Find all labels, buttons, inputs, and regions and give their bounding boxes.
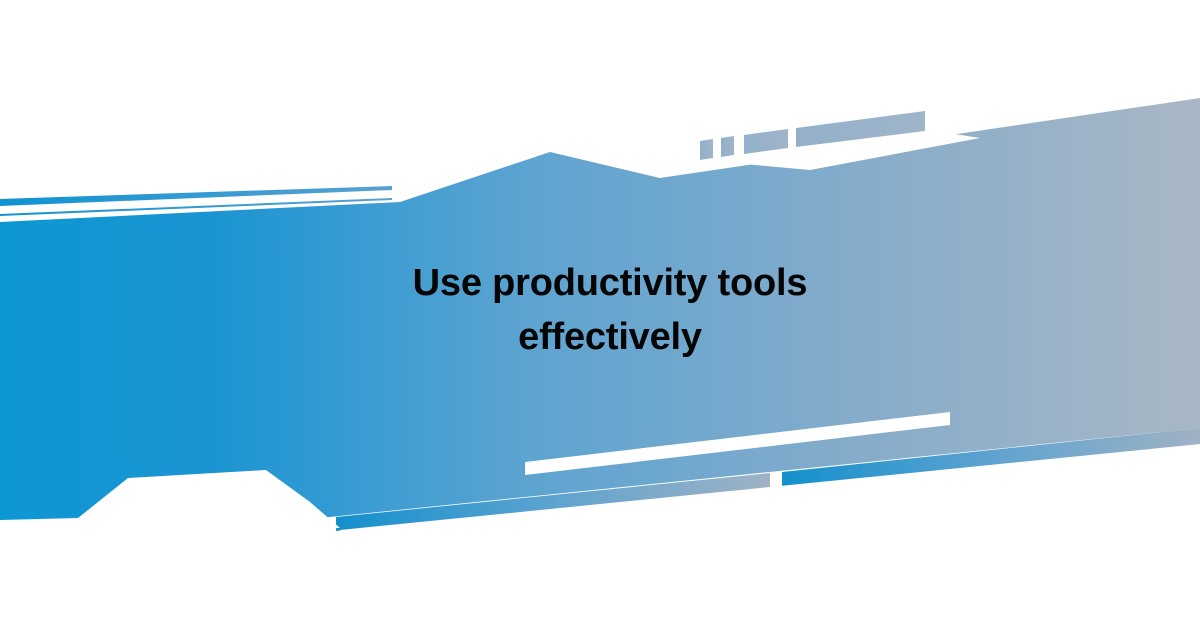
- banner-graphic: [0, 0, 1200, 630]
- banner-card: Use productivity tools effectively: [0, 0, 1200, 630]
